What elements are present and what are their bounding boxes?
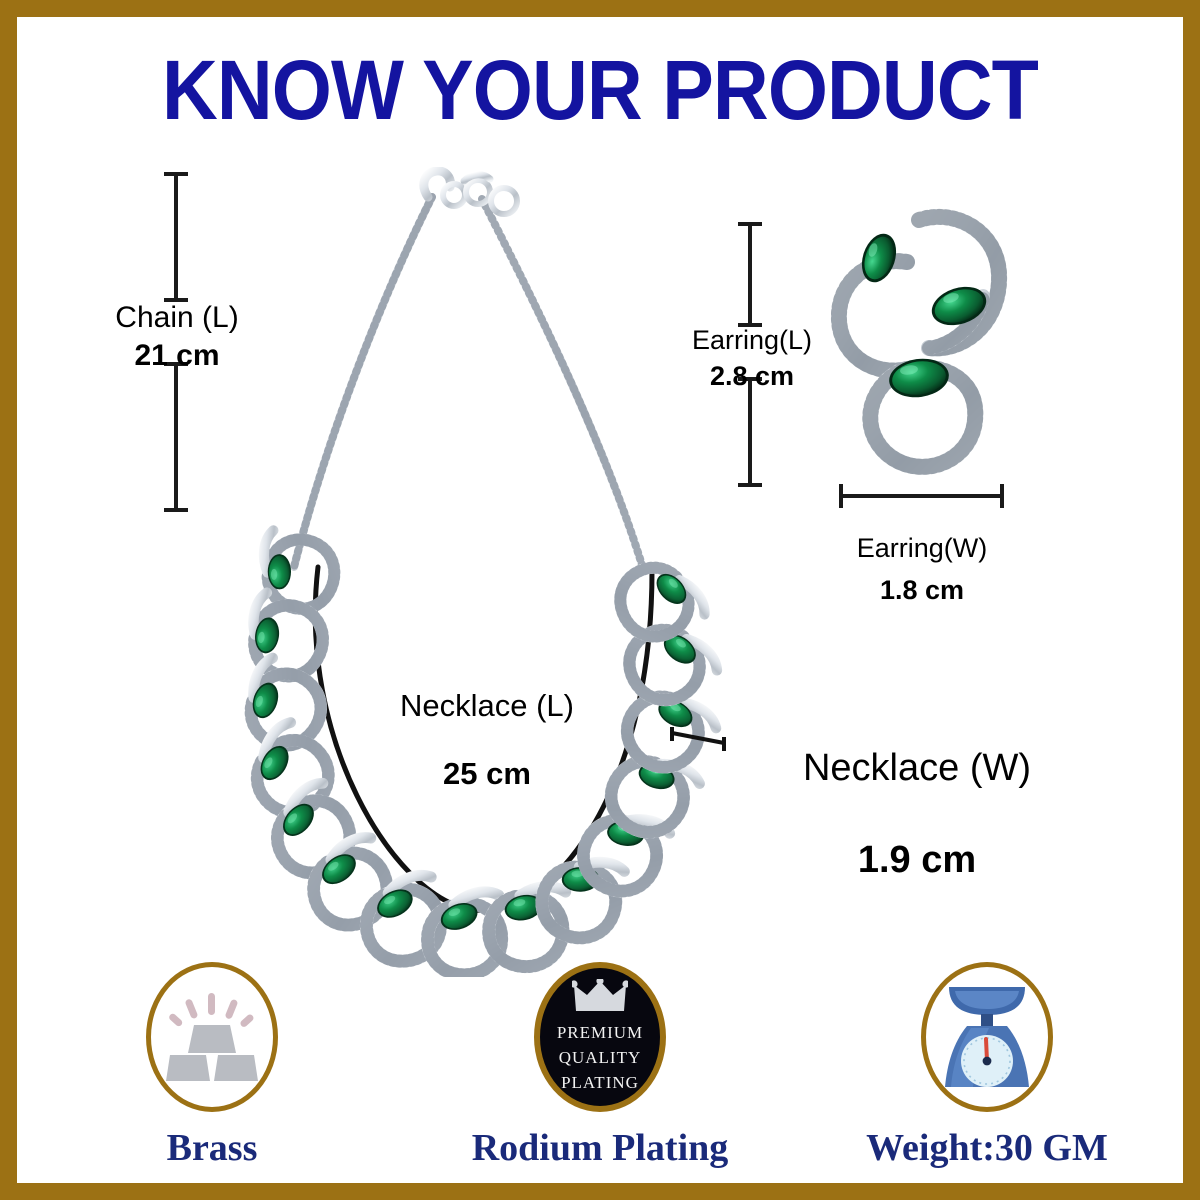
necklace-length-label-text: Necklace (L) <box>337 672 637 740</box>
seal-line-1: PREMIUM <box>540 1020 660 1045</box>
earring-width-value: 1.8 cm <box>797 569 1047 611</box>
earring-illustration <box>807 202 1037 482</box>
page-title: KNOW YOUR PRODUCT <box>64 45 1137 135</box>
seal-line-3: PLATING <box>540 1070 660 1095</box>
infographic-canvas: KNOW YOUR PRODUCT Chain (L) 21 cm <box>0 0 1200 1200</box>
weight-caption: Weight:30 GM <box>822 1126 1152 1170</box>
necklace-illustration <box>232 167 752 977</box>
badge-plating: PREMIUM QUALITY PLATING Rodium Plating <box>435 962 765 1170</box>
infographic-body: KNOW YOUR PRODUCT Chain (L) 21 cm <box>17 17 1183 1183</box>
weighing-scale-icon <box>941 981 1033 1093</box>
necklace-width-label: Necklace (W) 1.9 cm <box>752 722 1082 906</box>
lobster-clasp-group <box>424 171 517 214</box>
chain-length-dimension-line-lower <box>174 362 178 512</box>
chain-length-dimension-line <box>174 172 178 302</box>
necklace-width-label-text: Necklace (W) <box>752 722 1082 814</box>
earring-width-label-text: Earring(W) <box>797 527 1047 569</box>
plating-badge-seal: PREMIUM QUALITY PLATING <box>534 962 666 1112</box>
gold-bars-icon <box>164 991 260 1083</box>
necklace-width-value: 1.9 cm <box>752 814 1082 906</box>
seal-line-2: QUALITY <box>540 1045 660 1070</box>
earring-width-label: Earring(W) 1.8 cm <box>797 527 1047 611</box>
necklace-length-label: Necklace (L) 25 cm <box>337 672 637 808</box>
earring-width-dimension-line <box>839 494 1004 498</box>
earring-length-dimension-line <box>748 222 752 327</box>
badge-material: Brass <box>47 962 377 1170</box>
material-caption: Brass <box>47 1126 377 1170</box>
weight-badge-ring <box>921 962 1053 1112</box>
material-badge-ring <box>146 962 278 1112</box>
plating-caption: Rodium Plating <box>435 1126 765 1170</box>
necklace-length-value: 25 cm <box>337 740 637 808</box>
crown-icon <box>572 979 628 1013</box>
badge-weight: Weight:30 GM <box>822 962 1152 1170</box>
plating-seal-text: PREMIUM QUALITY PLATING <box>540 1020 660 1095</box>
